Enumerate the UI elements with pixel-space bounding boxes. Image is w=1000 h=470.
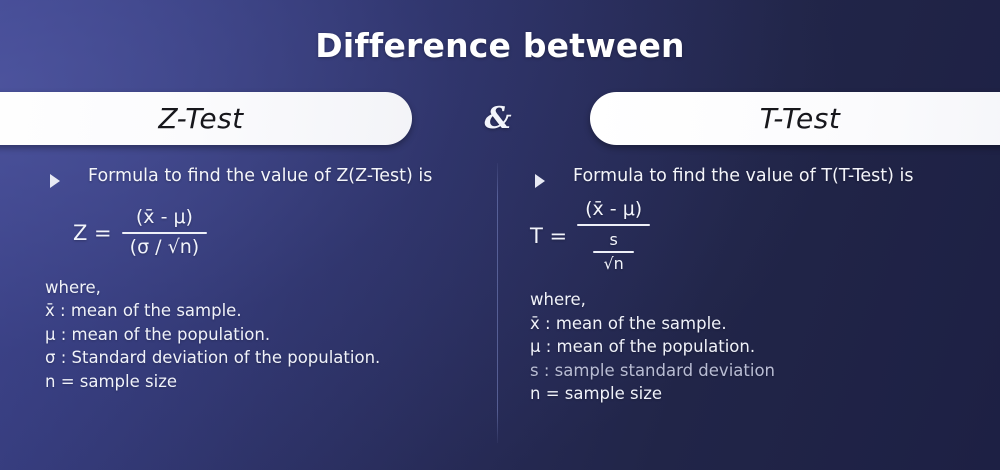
triangle-bullet-icon bbox=[535, 174, 545, 188]
z-formula-numerator: (x̄ - μ) bbox=[128, 206, 201, 230]
t-test-formula: T = (x̄ - μ) s √n bbox=[530, 198, 980, 274]
t-formula-inner-denominator: √n bbox=[593, 255, 633, 273]
t-formula-denominator: s √n bbox=[585, 228, 641, 274]
column-divider bbox=[497, 163, 498, 443]
t-formula-fraction-bar bbox=[577, 224, 650, 226]
left-definition-sigma: σ : Standard deviation of the population… bbox=[45, 346, 485, 370]
z-formula-denominator: (σ / √n) bbox=[122, 236, 208, 260]
t-formula-inner-fraction: s √n bbox=[593, 231, 633, 273]
right-where-block: where, x̄ : mean of the sample. μ : mean… bbox=[530, 288, 980, 406]
left-where-heading: where, bbox=[45, 276, 485, 300]
right-definition-xbar: x̄ : mean of the sample. bbox=[530, 312, 980, 336]
z-formula-lhs: Z = bbox=[73, 221, 112, 245]
right-bullet-text: Formula to find the value of T(T-Test) i… bbox=[573, 166, 913, 186]
header-pill-z-test: Z-Test bbox=[0, 92, 412, 145]
header-pill-t-test: T-Test bbox=[590, 92, 1000, 145]
right-definition-mu: μ : mean of the population. bbox=[530, 335, 980, 359]
left-column: Formula to find the value of Z(Z-Test) i… bbox=[45, 165, 485, 393]
left-definition-n: n = sample size bbox=[45, 370, 485, 394]
z-formula-fraction-bar bbox=[122, 232, 208, 234]
t-formula-inner-numerator: s bbox=[599, 231, 627, 249]
left-bullet-item: Formula to find the value of Z(Z-Test) i… bbox=[45, 165, 485, 188]
left-where-block: where, x̄ : mean of the sample. μ : mean… bbox=[45, 276, 485, 394]
z-test-formula: Z = (x̄ - μ) (σ / √n) bbox=[45, 206, 485, 260]
ampersand-separator: & bbox=[470, 92, 526, 145]
right-bullet-item: Formula to find the value of T(T-Test) i… bbox=[530, 165, 980, 188]
right-definition-s: s : sample standard deviation bbox=[530, 359, 980, 383]
right-where-heading: where, bbox=[530, 288, 980, 312]
t-formula-lhs: T = bbox=[530, 224, 567, 248]
page-title: Difference between bbox=[0, 26, 1000, 65]
pill-label-z-test: Z-Test bbox=[158, 102, 243, 135]
right-definition-n: n = sample size bbox=[530, 382, 980, 406]
triangle-bullet-icon bbox=[50, 174, 60, 188]
t-formula-inner-fraction-bar bbox=[593, 251, 633, 253]
t-formula-numerator: (x̄ - μ) bbox=[577, 198, 650, 222]
t-formula-fraction: (x̄ - μ) s √n bbox=[577, 198, 650, 274]
slide-canvas: Difference between Z-Test & T-Test Formu… bbox=[0, 0, 1000, 470]
pill-label-t-test: T-Test bbox=[760, 102, 841, 135]
left-definition-mu: μ : mean of the population. bbox=[45, 323, 485, 347]
right-column: Formula to find the value of T(T-Test) i… bbox=[530, 165, 980, 406]
left-definition-xbar: x̄ : mean of the sample. bbox=[45, 299, 485, 323]
left-bullet-text: Formula to find the value of Z(Z-Test) i… bbox=[88, 166, 432, 186]
z-formula-fraction: (x̄ - μ) (σ / √n) bbox=[122, 206, 208, 260]
